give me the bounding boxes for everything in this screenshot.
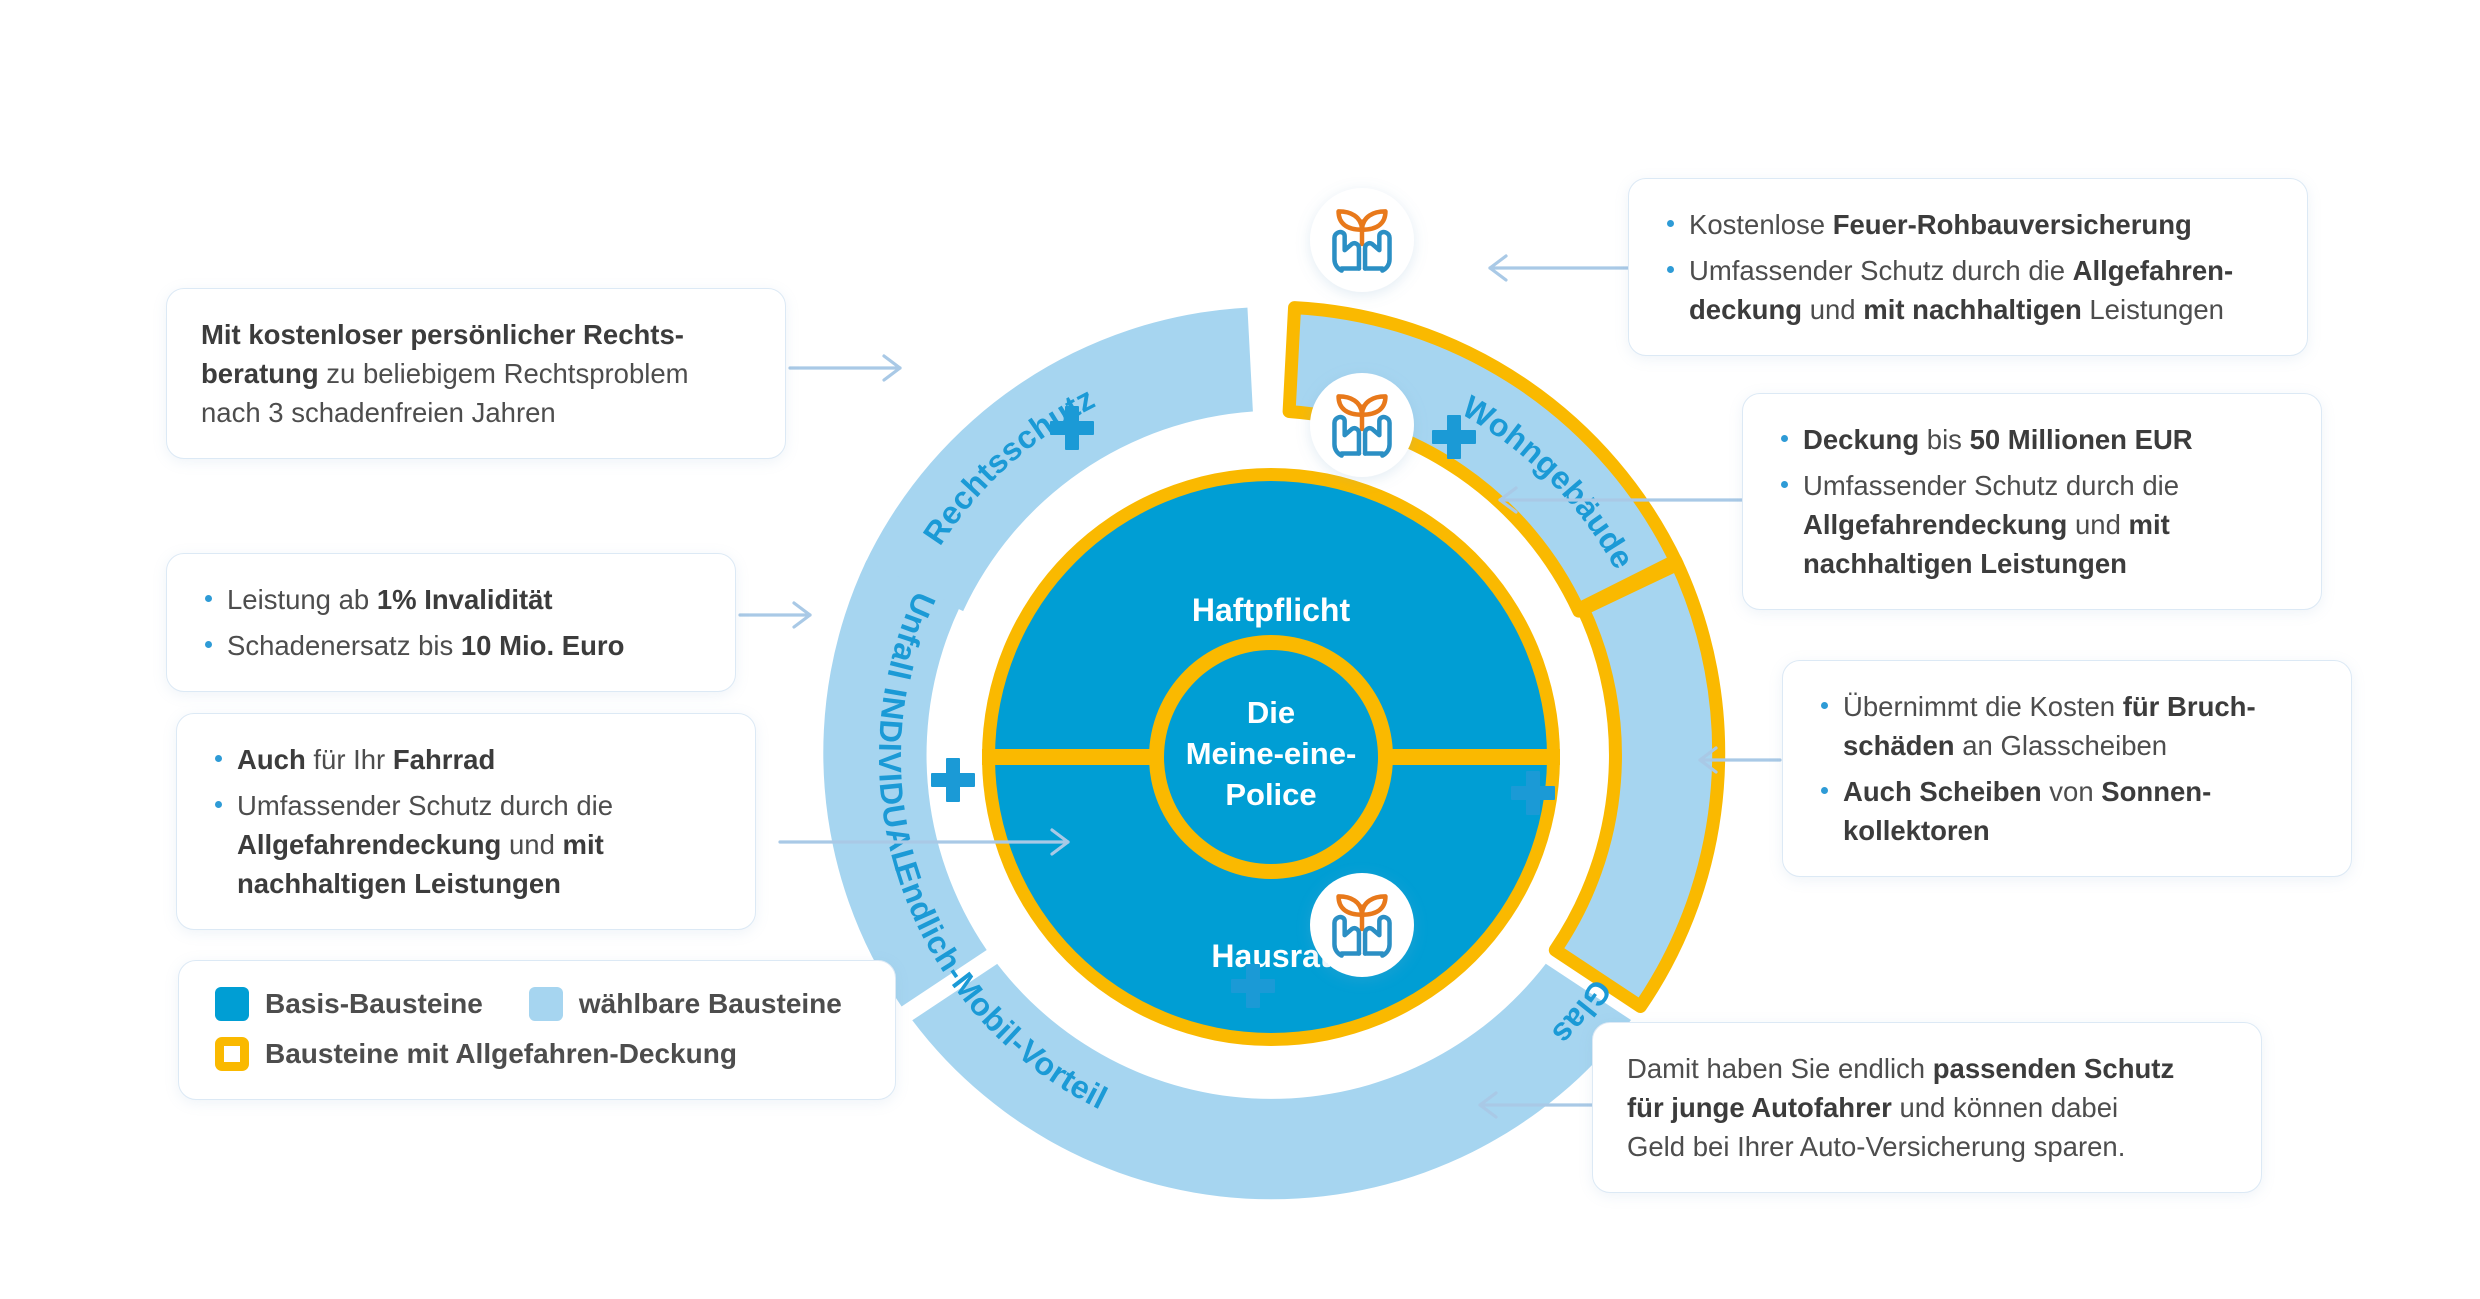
callout-bullet: Leistung ab 1% Invalidität xyxy=(201,580,701,619)
arrow-to-glas xyxy=(1700,748,1780,772)
center-label-line1: Die xyxy=(1247,695,1295,730)
center-label-line3: Police xyxy=(1225,777,1316,812)
callout-line: beratung zu beliebigem Rechtsproblem xyxy=(201,354,751,393)
callout-bullet: Übernimmt die Kosten für Bruch-schäden a… xyxy=(1817,687,2317,765)
callout-bullet: Umfassender Schutz durch die Allgefahren… xyxy=(1777,466,2287,583)
callout-bullet: Umfassender Schutz durch die Allgefahren… xyxy=(1663,251,2273,329)
callout-bullet: Umfassender Schutz durch die Allgefahren… xyxy=(211,786,721,903)
legend-box: Basis-Bausteine wählbare Bausteine Baust… xyxy=(178,960,896,1100)
arrow-to-wohngebaeude xyxy=(1490,256,1630,280)
callout-mobil[interactable]: Damit haben Sie endlich passenden Schutz… xyxy=(1592,1022,2262,1193)
callout-line: Mit kostenloser persönlicher Rechts- xyxy=(201,315,751,354)
inner-label-hausrat: Hausrat xyxy=(1211,938,1331,974)
legend-swatch-allgefahren xyxy=(215,1037,249,1071)
callout-bullet: Kostenlose Feuer-Rohbauversicherung xyxy=(1663,205,2273,244)
callout-bullet: Auch für Ihr Fahrrad xyxy=(211,740,721,779)
legend-label-basis: Basis-Bausteine xyxy=(265,988,483,1020)
callout-glas[interactable]: Übernimmt die Kosten für Bruch-schäden a… xyxy=(1782,660,2352,877)
callout-bullet: Schadenersatz bis 10 Mio. Euro xyxy=(201,626,701,665)
callout-hausrat[interactable]: Auch für Ihr Fahrrad Umfassender Schutz … xyxy=(176,713,756,930)
callout-bullet: Auch Scheiben von Sonnen-kollektoren xyxy=(1817,772,2317,850)
arrow-to-unfall xyxy=(740,603,810,627)
infographic-canvas: Rechtsschutz Wohngebäude Glas Endlich-Mo… xyxy=(0,0,2480,1299)
legend-label-waehlbar: wählbare Bausteine xyxy=(579,988,842,1020)
inner-label-haftpflicht: Haftpflicht xyxy=(1192,592,1351,628)
callout-wohngebaeude[interactable]: Kostenlose Feuer-Rohbauversicherung Umfa… xyxy=(1628,178,2308,356)
callout-haftpflicht[interactable]: Deckung bis 50 Millionen EUR Umfassender… xyxy=(1742,393,2322,610)
sustainability-icon-bottom[interactable] xyxy=(1310,873,1414,977)
arrow-to-rechtsschutz xyxy=(790,356,900,380)
legend-swatch-basis xyxy=(215,987,249,1021)
center-label-line2: Meine-eine- xyxy=(1186,736,1357,771)
callout-line: nach 3 schadenfreien Jahren xyxy=(201,393,751,432)
legend-row-1: Basis-Bausteine wählbare Bausteine xyxy=(215,987,895,1021)
callout-bullet: Deckung bis 50 Millionen EUR xyxy=(1777,420,2287,459)
callout-line: für junge Autofahrer und können dabei xyxy=(1627,1088,2227,1127)
legend-label-allgefahren: Bausteine mit Allgefahren-Deckung xyxy=(265,1038,737,1070)
sustainability-icon-middle[interactable] xyxy=(1310,373,1414,477)
callout-rechtsschutz[interactable]: Mit kostenloser persönlicher Rechts- ber… xyxy=(166,288,786,459)
callout-line: Geld bei Ihrer Auto-Versicherung sparen. xyxy=(1627,1127,2227,1166)
callout-line: Damit haben Sie endlich passenden Schutz xyxy=(1627,1049,2227,1088)
legend-swatch-waehlbar xyxy=(529,987,563,1021)
sustainability-icon-top[interactable] xyxy=(1310,188,1414,292)
legend-row-2: Bausteine mit Allgefahren-Deckung xyxy=(215,1037,895,1071)
callout-unfall[interactable]: Leistung ab 1% Invalidität Schadenersatz… xyxy=(166,553,736,692)
plus-sign-left xyxy=(931,758,975,802)
